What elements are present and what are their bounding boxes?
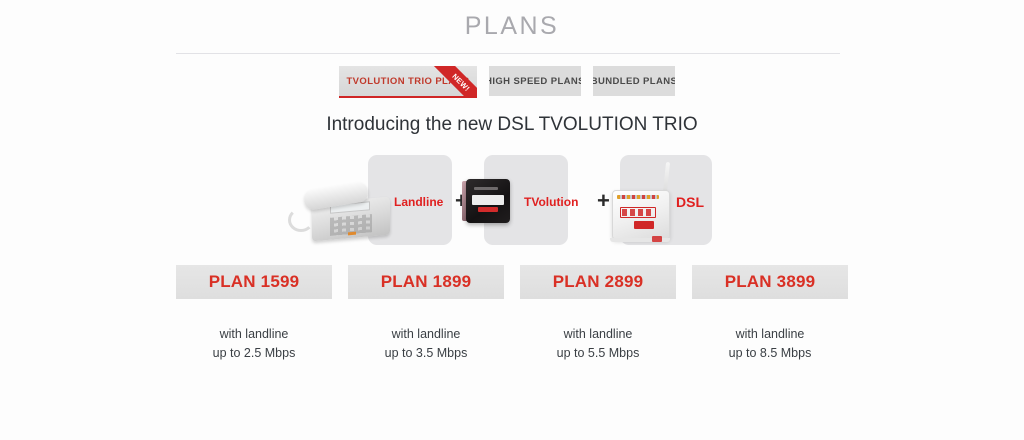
plan-desc-line-2: up to 8.5 Mbps [729, 344, 812, 363]
plan-column: PLAN 1599 with landline up to 2.5 Mbps [176, 265, 332, 363]
tvolution-label: TVolution [524, 195, 578, 209]
dsl-label: DSL [676, 194, 704, 210]
plan-name: PLAN 1599 [209, 272, 300, 292]
tab-high-speed-plans[interactable]: HIGH SPEED PLANS [489, 66, 581, 96]
plan-desc-line-2: up to 3.5 Mbps [385, 344, 468, 363]
landline-label: Landline [394, 195, 443, 209]
plan-desc-line-1: with landline [385, 325, 468, 344]
plan-desc-line-1: with landline [213, 325, 296, 344]
plan-description: with landline up to 8.5 Mbps [729, 325, 812, 363]
active-tab-indicator [339, 96, 477, 98]
plan-category-tabs: TVOLUTION TRIO PLANS NEW! HIGH SPEED PLA… [339, 66, 675, 96]
landline-phone-icon [286, 176, 394, 244]
plan-card-1599[interactable]: PLAN 1599 [176, 265, 332, 299]
plan-description: with landline up to 2.5 Mbps [213, 325, 296, 363]
plan-desc-line-1: with landline [729, 325, 812, 344]
plan-desc-line-2: up to 2.5 Mbps [213, 344, 296, 363]
plan-description: with landline up to 3.5 Mbps [385, 325, 468, 363]
plan-card-2899[interactable]: PLAN 2899 [520, 265, 676, 299]
tvolution-box-icon [466, 179, 510, 223]
promo-subheading: Introducing the new DSL TVOLUTION TRIO [0, 114, 1024, 136]
plan-name: PLAN 1899 [381, 272, 472, 292]
plan-desc-line-2: up to 5.5 Mbps [557, 344, 640, 363]
tab-bundled-plans[interactable]: BUNDLED PLANS [593, 66, 675, 96]
plans-page: PLANS TVOLUTION TRIO PLANS NEW! HIGH SPE… [0, 0, 1024, 440]
plan-column: PLAN 3899 with landline up to 8.5 Mbps [692, 265, 848, 363]
tab-label: HIGH SPEED PLANS [489, 76, 581, 87]
product-bundle-strip: Landline + TVolution + DSL [176, 152, 840, 252]
plan-desc-line-1: with landline [557, 325, 640, 344]
plans-row: PLAN 1599 with landline up to 2.5 Mbps P… [176, 265, 848, 363]
plan-card-3899[interactable]: PLAN 3899 [692, 265, 848, 299]
header-divider [176, 53, 840, 54]
tab-label: BUNDLED PLANS [593, 76, 675, 87]
plan-description: with landline up to 5.5 Mbps [557, 325, 640, 363]
plan-name: PLAN 3899 [725, 272, 816, 292]
plan-column: PLAN 2899 with landline up to 5.5 Mbps [520, 265, 676, 363]
tab-tvolution-trio-plans[interactable]: TVOLUTION TRIO PLANS NEW! [339, 66, 477, 96]
plan-name: PLAN 2899 [553, 272, 644, 292]
page-title: PLANS [0, 12, 1024, 41]
tab-label: TVOLUTION TRIO PLANS [346, 76, 469, 87]
plan-card-1899[interactable]: PLAN 1899 [348, 265, 504, 299]
plan-column: PLAN 1899 with landline up to 3.5 Mbps [348, 265, 504, 363]
